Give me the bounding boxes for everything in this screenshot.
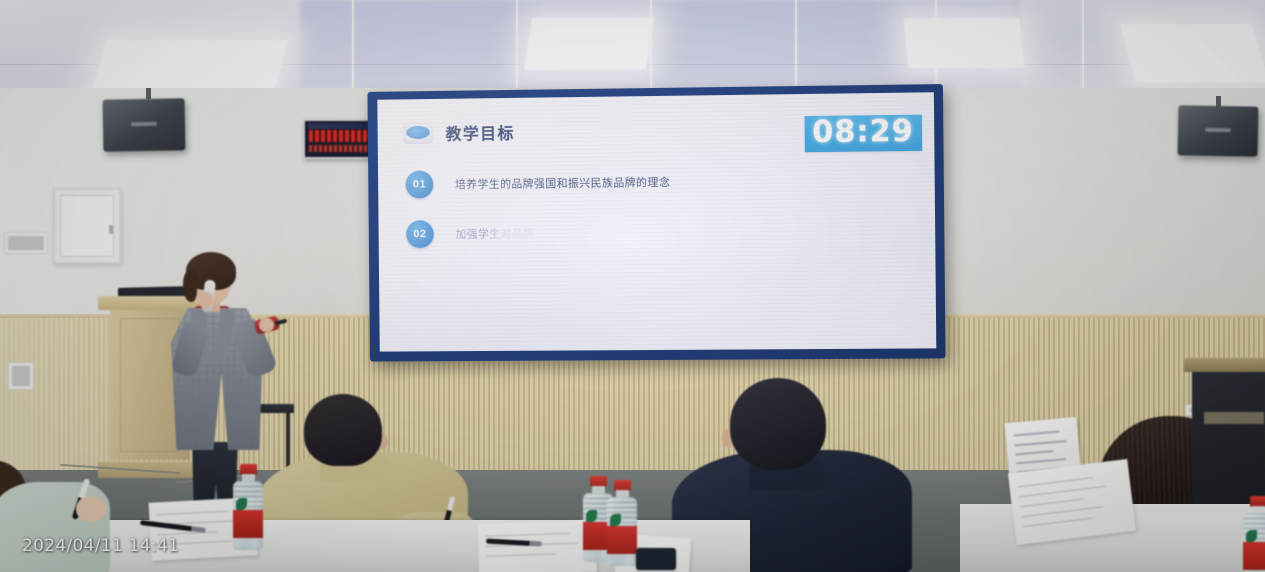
presenter-right-hand [259,318,274,332]
bullet-text: 加强学生对品牌 [455,225,534,242]
ceiling-light-panel [1120,24,1265,82]
audience-head [304,394,382,466]
audience-hand [76,496,106,522]
speaker-bracket [146,88,151,99]
led-sign-row-secondary [309,145,373,152]
water-bottle [1242,496,1265,572]
slide-title: 教学目标 [445,120,514,145]
led-sign-header [308,123,374,129]
slide-bullet-list: 01 培养学生的品牌强国和振兴民族品牌的理念 02 加强学生对品牌 [406,165,919,270]
led-scrolling-sign [303,119,375,159]
wall-speaker-icon [1178,105,1259,156]
water-bottle [232,464,264,550]
slide-title-row: 教学目标 [403,120,515,145]
water-bottle [606,480,638,566]
dark-wooden-chair [1192,366,1265,506]
timer-value: 08:29 [812,117,914,149]
wall-speaker-icon [103,98,186,151]
outlet-face [12,366,30,386]
ceiling-light-panel [903,18,1024,68]
wall-access-panel[interactable] [53,188,121,264]
bullet-text: 培养学生的品牌强国和振兴民族品牌的理念 [455,174,670,192]
ceiling-seam [516,0,518,92]
audience-head [730,378,826,470]
dark-phone [636,548,676,570]
bottle-label [607,526,637,554]
panel-inner [60,195,114,257]
blue-ellipse-icon [403,122,433,144]
ceiling-seam [650,0,652,92]
panel-latch-icon[interactable] [109,225,113,234]
slide-surface: 教学目标 08:29 01 培养学生的品牌强国和振兴民族品牌的理念 02 加强学… [377,92,936,351]
bullet-number-badge: 02 [406,220,434,248]
ceiling-seam [1082,0,1084,92]
audience-mint-sleeve-writing [0,466,140,572]
presenter-left-hand [199,292,213,308]
ceiling-seam [352,0,354,92]
countdown-timer: 08:29 [804,115,922,152]
list-item: 02 加强学生对品牌 [406,215,918,248]
timestamp-overlay: 2024/04/11 14:41 [22,536,179,556]
bullet-number-badge: 01 [406,170,434,198]
presentation-display[interactable]: 教学目标 08:29 01 培养学生的品牌强国和振兴民族品牌的理念 02 加强学… [367,84,945,362]
bottle-label [233,510,263,538]
classroom-photo: 教学目标 08:29 01 培养学生的品牌强国和振兴民族品牌的理念 02 加强学… [0,0,1265,572]
paper-document [1008,459,1136,545]
ceiling-seam [795,0,797,92]
wall-outlet[interactable] [8,362,34,390]
wall-outlet[interactable] [4,232,48,254]
ceiling-light-panel [524,18,654,70]
list-item: 01 培养学生的品牌强国和振兴民族品牌的理念 [406,165,918,199]
led-sign-row-primary [309,130,373,142]
bottle-label [1243,542,1265,570]
outlet-face [8,236,44,250]
presenter-hair-side [183,270,197,302]
